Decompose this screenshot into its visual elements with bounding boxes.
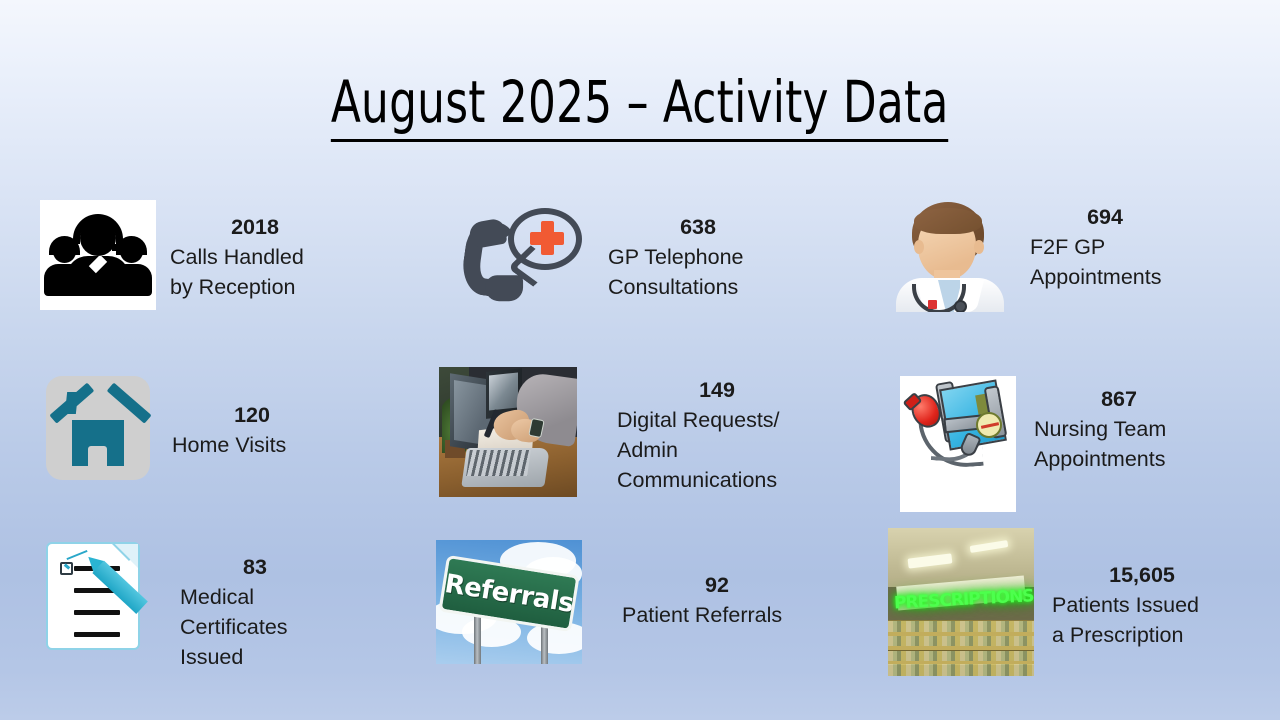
stat-label-line: Medical [180, 582, 330, 612]
stat-digital-requests: 149 Digital Requests/ Admin Communicatio… [439, 367, 817, 497]
stat-label-line: Home Visits [172, 430, 332, 460]
stat-text: 149 Digital Requests/ Admin Communicatio… [617, 375, 817, 495]
activity-data-slide: August 2025 – Activity Data 2018 Calls H… [0, 0, 1280, 720]
stat-label-line: Calls Handled [170, 242, 340, 272]
stat-number: 694 [1030, 202, 1180, 232]
stat-label-line: Certificates [180, 612, 330, 642]
stat-text: 694 F2F GP Appointments [1030, 202, 1180, 292]
stat-number: 149 [617, 375, 817, 405]
stat-number: 15,605 [1052, 560, 1232, 590]
stat-f2f-gp-appointments: 694 F2F GP Appointments [888, 200, 1180, 312]
stat-label-line: F2F GP [1030, 232, 1180, 262]
stat-patients-issued-prescription: PRESCRIPTIONS 15,605 Patients Issued a P… [888, 528, 1232, 676]
pharmacy-neon-photo: PRESCRIPTIONS [888, 528, 1034, 676]
stat-label-line: Digital Requests/ [617, 405, 817, 435]
stat-text: 638 GP Telephone Consultations [608, 212, 788, 302]
stat-medical-certificates: 83 Medical Certificates Issued [40, 534, 330, 672]
stat-text: 120 Home Visits [172, 400, 332, 460]
house-icon [46, 376, 150, 480]
stat-gp-telephone-consultations: 638 GP Telephone Consultations [436, 200, 788, 308]
stat-number: 92 [622, 570, 812, 600]
call-centre-team-icon [40, 200, 156, 310]
stat-number: 83 [180, 552, 330, 582]
stat-label-line: Issued [180, 642, 330, 672]
stat-label-line: Appointments [1030, 262, 1180, 292]
stat-text: 2018 Calls Handled by Reception [170, 212, 340, 302]
phone-medical-cross-icon [436, 200, 586, 308]
page-title-text: August 2025 – Activity Data [331, 68, 949, 142]
stat-label-line: Appointments [1034, 444, 1204, 474]
stat-number: 120 [172, 400, 332, 430]
stat-text: 867 Nursing Team Appointments [1034, 384, 1204, 474]
doctor-avatar-icon [888, 200, 1012, 312]
stat-label-line: Nursing Team [1034, 414, 1204, 444]
stat-text: 83 Medical Certificates Issued [180, 552, 330, 672]
stat-nursing-team-appointments: 867 Nursing Team Appointments [900, 362, 1204, 512]
stat-number: 867 [1034, 384, 1204, 414]
stat-label-line: by Reception [170, 272, 340, 302]
laptop-desk-photo [439, 367, 577, 497]
certificate-pencil-icon [40, 534, 158, 656]
stat-text: 92 Patient Referrals [622, 570, 812, 630]
stat-label-line: Consultations [608, 272, 788, 302]
stat-label-line: Communications [617, 465, 817, 495]
stat-number: 2018 [170, 212, 340, 242]
stat-home-visits: 120 Home Visits [46, 376, 332, 480]
stat-label-line: Patients Issued [1052, 590, 1232, 620]
stat-text: 15,605 Patients Issued a Prescription [1052, 560, 1232, 650]
page-title: August 2025 – Activity Data [0, 68, 1280, 142]
stat-label-line: a Prescription [1052, 620, 1232, 650]
road-sign-text: Referrals [443, 568, 576, 618]
stat-label-line: GP Telephone [608, 242, 788, 272]
blood-pressure-monitor-icon [900, 362, 1016, 512]
stat-label-line: Admin [617, 435, 817, 465]
stat-patient-referrals: Referrals 92 Patient Referrals [436, 540, 812, 664]
referrals-road-sign-photo: Referrals [436, 540, 582, 664]
stat-label-line: Patient Referrals [622, 600, 812, 630]
stat-number: 638 [608, 212, 788, 242]
stat-calls-handled: 2018 Calls Handled by Reception [40, 200, 340, 310]
